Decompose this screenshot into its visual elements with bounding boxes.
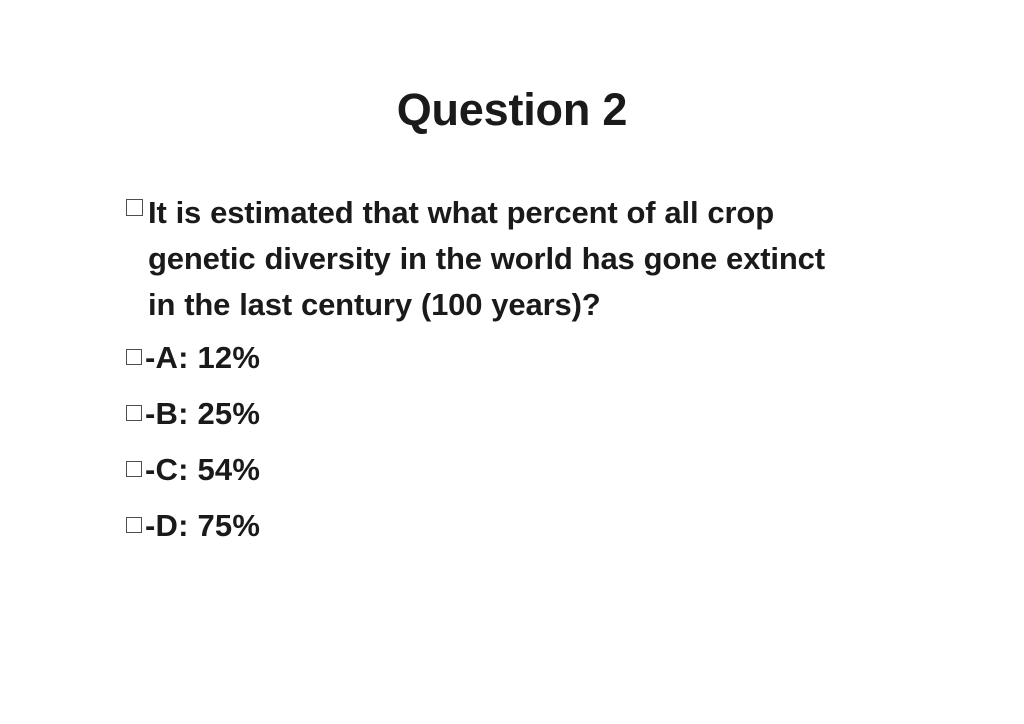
question-bullet-item: It is estimated that what percent of all…: [126, 190, 886, 328]
empty-square-bullet-icon: [126, 349, 142, 365]
list-item[interactable]: -C: 54%: [126, 452, 886, 508]
question-text: It is estimated that what percent of all…: [148, 190, 860, 328]
list-item[interactable]: -A: 12%: [126, 340, 886, 396]
list-item[interactable]: -B: 25%: [126, 396, 886, 452]
slide-body: It is estimated that what percent of all…: [126, 190, 886, 564]
option-label-d: -D: 75%: [145, 508, 260, 544]
list-item[interactable]: -D: 75%: [126, 508, 886, 564]
empty-square-bullet-icon: [126, 405, 142, 421]
answer-options-list: -A: 12% -B: 25% -C: 54% -D: 75%: [126, 340, 886, 564]
option-label-a: -A: 12%: [145, 340, 260, 376]
empty-square-bullet-icon: [126, 199, 143, 216]
option-label-c: -C: 54%: [145, 452, 260, 488]
empty-square-bullet-icon: [126, 517, 142, 533]
empty-square-bullet-icon: [126, 461, 142, 477]
option-label-b: -B: 25%: [145, 396, 260, 432]
slide-canvas: Question 2 It is estimated that what per…: [0, 0, 1024, 724]
page-title: Question 2: [0, 86, 1024, 135]
